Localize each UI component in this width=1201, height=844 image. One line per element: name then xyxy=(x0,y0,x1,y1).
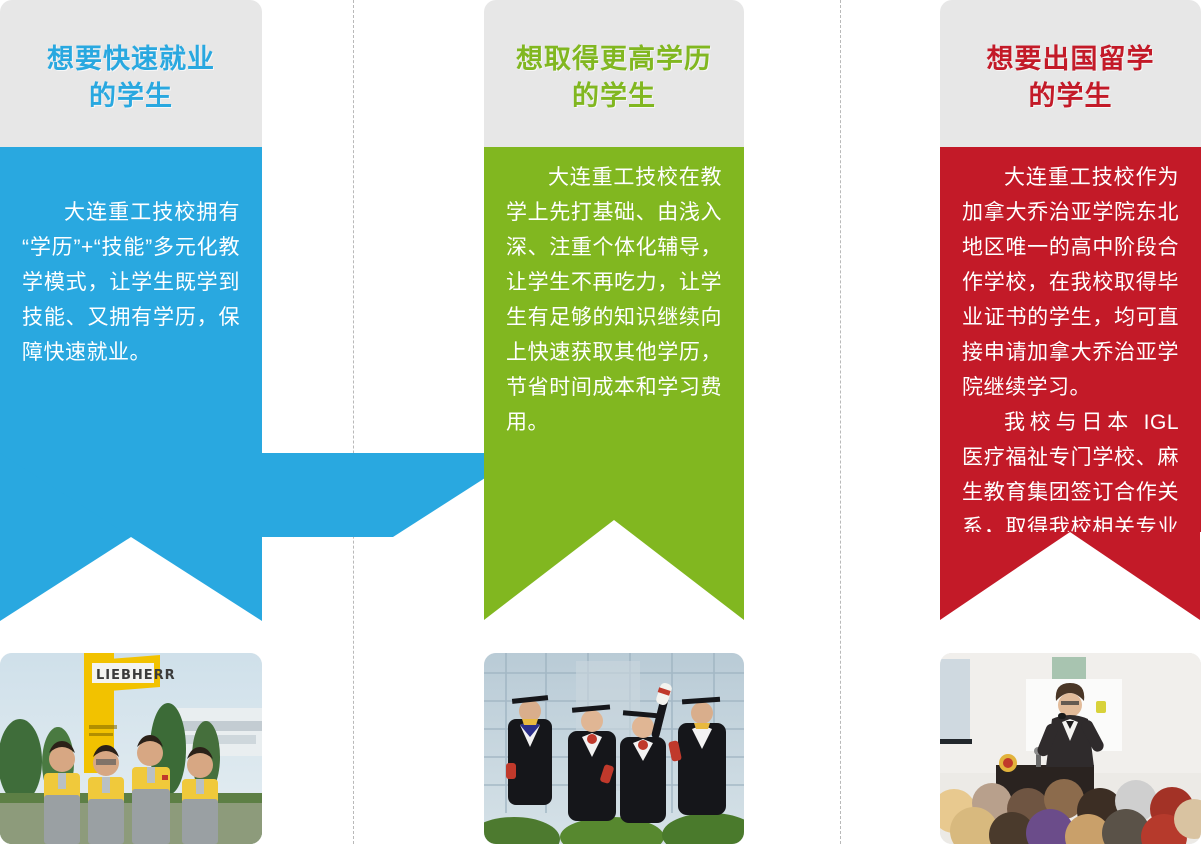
column-2-body: 大连重工技校在教学上先打基础、由浅入深、注重个体化辅导，让学生不再吃力，让学生有… xyxy=(484,147,744,520)
column-higher-degree[interactable]: 想取得更高学历 的学生 大连重工技校在教学上先打基础、由浅入深、注重个体化辅导，… xyxy=(484,0,744,520)
column-3-title-line-2: 的学生 xyxy=(1029,78,1113,115)
column-fast-employment[interactable]: 想要快速就业 的学生 大连重工技校拥有“学历”+“技能”多元化教学模式，让学生既… xyxy=(0,0,262,537)
column-separator-1 xyxy=(353,0,355,844)
column-2-body-text: 大连重工技校在教学上先打基础、由浅入深、注重个体化辅导，让学生不再吃力，让学生有… xyxy=(506,160,722,440)
column-2-photo xyxy=(484,653,744,844)
column-2-title-line-2: 的学生 xyxy=(572,78,656,115)
lecture-audience-photo-art xyxy=(940,653,1201,844)
column-1-title-line-2: 的学生 xyxy=(89,78,173,115)
column-1-body-text: 大连重工技校拥有“学历”+“技能”多元化教学模式，让学生既学到技能、又拥有学历，… xyxy=(22,195,240,370)
column-1-photo: LIEBHERR xyxy=(0,653,262,844)
column-3-body: 大连重工技校作为加拿大乔治亚学院东北地区唯一的高中阶段合作学校，在我校取得毕业证… xyxy=(940,147,1201,532)
svg-text:LIEBHERR: LIEBHERR xyxy=(96,668,176,683)
column-separator-2 xyxy=(840,0,842,844)
column-3-photo xyxy=(940,653,1201,844)
column-1-chevron-shape xyxy=(0,537,262,621)
infographic-root: 想要快速就业 的学生 大连重工技校拥有“学历”+“技能”多元化教学模式，让学生既… xyxy=(0,0,1201,844)
graduates-celebrating-photo-art xyxy=(484,653,744,844)
column-3-chevron-shape xyxy=(940,532,1200,620)
column-study-abroad[interactable]: 想要出国留学 的学生 大连重工技校作为加拿大乔治亚学院东北地区唯一的高中阶段合作… xyxy=(940,0,1201,532)
column-1-chevron xyxy=(0,453,524,537)
column-1-header: 想要快速就业 的学生 xyxy=(0,0,262,147)
column-1-title-line-1: 想要快速就业 xyxy=(47,41,215,78)
column-2-header: 想取得更高学历 的学生 xyxy=(484,0,744,147)
students-in-work-uniforms-photo-art: LIEBHERR xyxy=(0,653,262,844)
column-3-header: 想要出国留学 的学生 xyxy=(940,0,1201,147)
column-3-body-paragraph-1: 大连重工技校作为加拿大乔治亚学院东北地区唯一的高中阶段合作学校，在我校取得毕业证… xyxy=(962,160,1179,405)
column-2-chevron-shape xyxy=(484,520,744,620)
column-3-title-line-1: 想要出国留学 xyxy=(987,41,1155,78)
column-2-title-line-1: 想取得更高学历 xyxy=(516,41,712,78)
column-1-body: 大连重工技校拥有“学历”+“技能”多元化教学模式，让学生既学到技能、又拥有学历，… xyxy=(0,147,262,537)
